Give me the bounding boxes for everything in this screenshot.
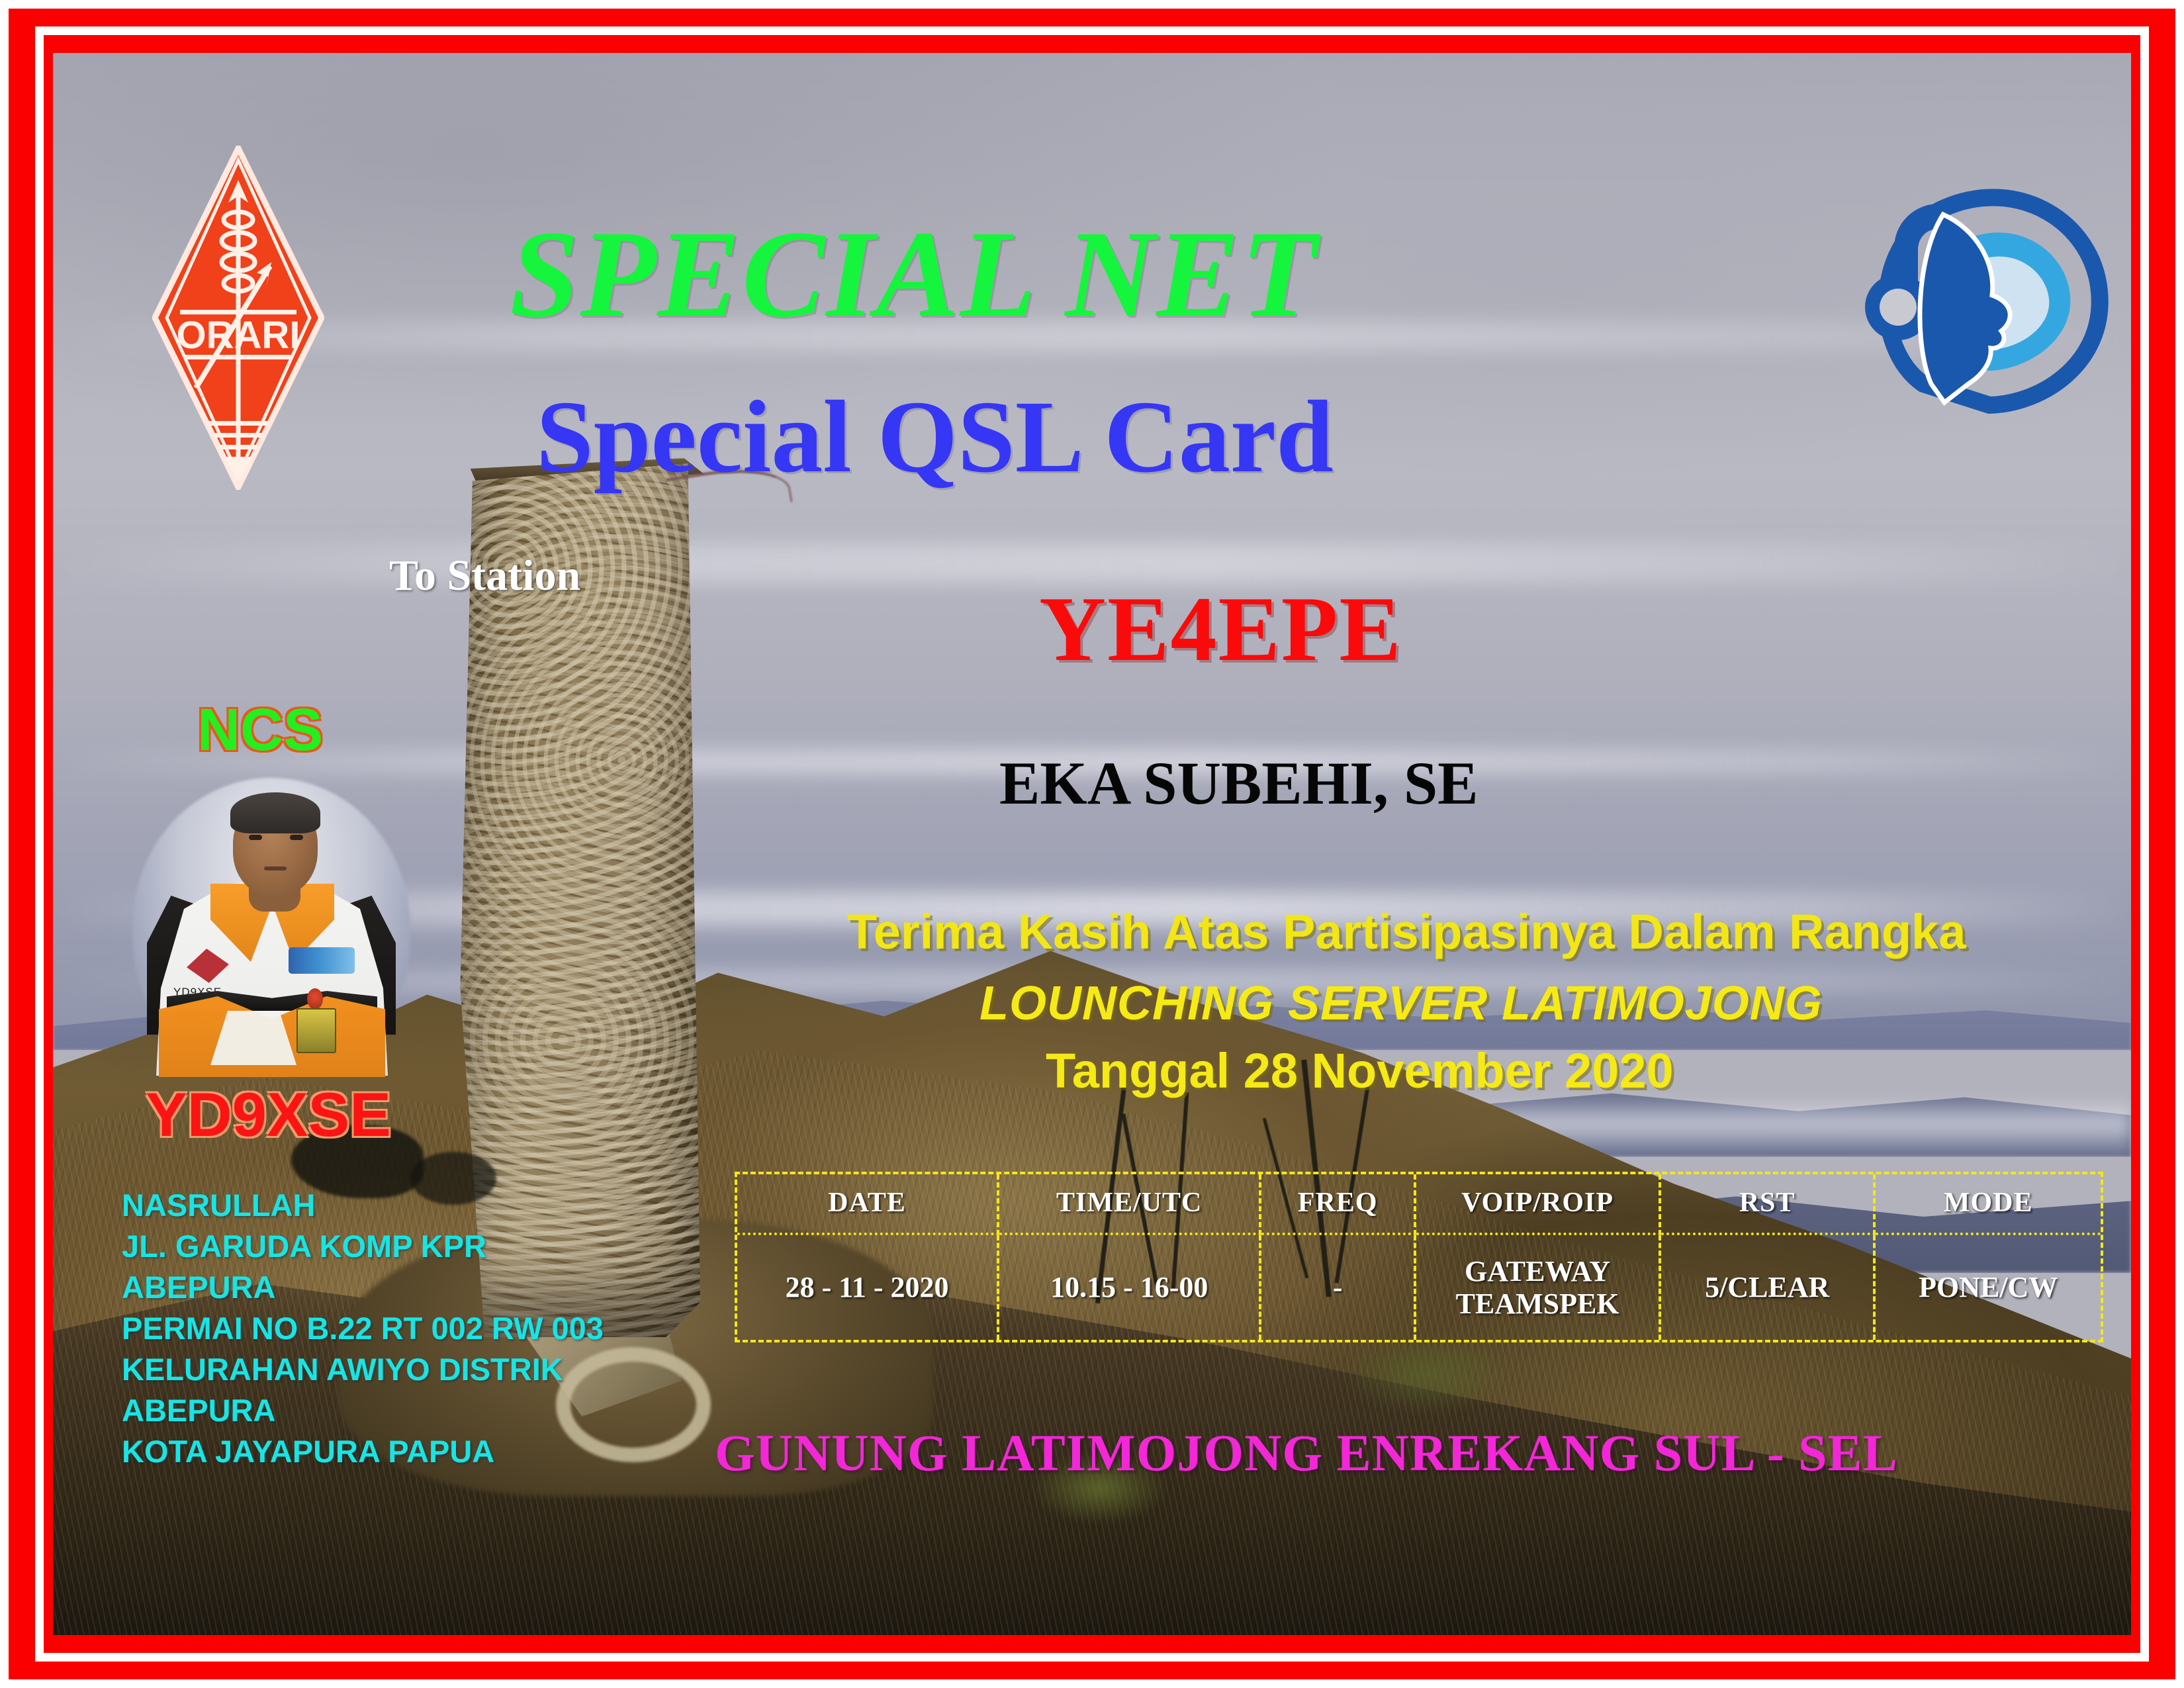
table-header-voip-roip: VOIP/ROIP xyxy=(1416,1174,1661,1235)
moss-patch xyxy=(1342,1334,1514,1413)
page-title: SPECIAL NET xyxy=(510,202,1318,346)
thanks-line: Terima Kasih Atas Partisipasinya Dalam R… xyxy=(847,904,1966,960)
table-header-mode: MODE xyxy=(1876,1174,2101,1235)
operator-hair xyxy=(230,792,320,833)
table-cell-date: 28 - 11 - 2020 xyxy=(737,1235,999,1340)
operator-eye-left xyxy=(249,835,262,840)
website-address: Address : amatir.latimojong.com xyxy=(1337,1634,2060,1635)
table-header-time: TIME/UTC xyxy=(999,1174,1261,1235)
event-line: LOUNCHING SERVER LATIMOJONG xyxy=(979,976,1823,1031)
event-date-line: Tanggal 28 November 2020 xyxy=(1046,1043,1674,1099)
station-callsign: YE4EPE xyxy=(1039,576,1402,682)
qso-table: DATE TIME/UTC FREQ VOIP/ROIP RST MODE 28… xyxy=(735,1172,2103,1342)
operator-mouth xyxy=(264,867,287,870)
table-header-freq: FREQ xyxy=(1261,1174,1416,1235)
table-cell-freq: - xyxy=(1261,1235,1416,1340)
orari-logo-text: ORARI xyxy=(177,314,300,357)
table-cell-time: 10.15 - 16-00 xyxy=(999,1235,1261,1340)
background-photo: ORARI xyxy=(53,53,2131,1635)
table-header-date: DATE xyxy=(737,1174,999,1235)
operator-eye-right xyxy=(290,835,303,840)
ncs-role-label: NCS xyxy=(197,696,323,765)
id-card xyxy=(296,1008,336,1053)
location-line: GUNUNG LATIMOJONG ENREKANG SUL - SEL xyxy=(715,1423,1898,1483)
headset-profile-logo xyxy=(1860,165,2124,417)
qsl-card: ORARI xyxy=(0,0,2184,1688)
page-subtitle: Special QSL Card xyxy=(536,377,1334,496)
operator-photo: YD9XSE xyxy=(132,778,410,1076)
uniform-patch-right xyxy=(289,947,355,974)
id-card-clip xyxy=(307,988,323,1009)
operator-name: EKA SUBEHI, SE xyxy=(999,748,1479,818)
orari-logo: ORARI xyxy=(152,146,324,490)
ncs-callsign: YD9XSE xyxy=(146,1079,391,1150)
ncs-address: NASRULLAH JL. GARUDA KOMP KPR ABEPURA PE… xyxy=(122,1185,604,1472)
table-cell-rst: 5/CLEAR xyxy=(1661,1235,1876,1340)
table-cell-voip-roip: GATEWAY TEAMSPEK xyxy=(1416,1235,1661,1340)
table-cell-mode: PONE/CW xyxy=(1876,1235,2101,1340)
to-station-label: To Station xyxy=(389,551,580,601)
table-header-rst: RST xyxy=(1661,1174,1876,1235)
